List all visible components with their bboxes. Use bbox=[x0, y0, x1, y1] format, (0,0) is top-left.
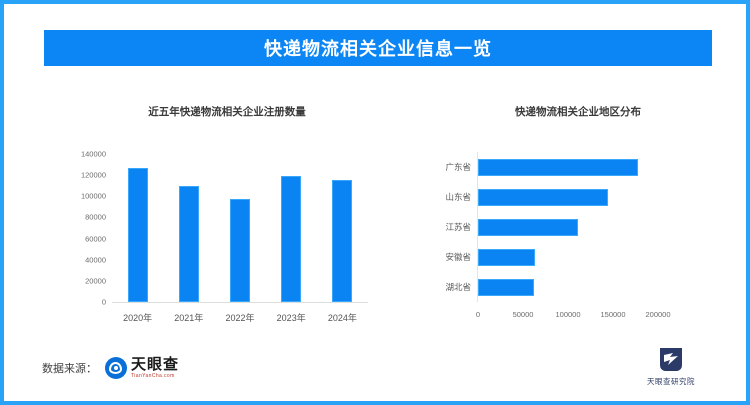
page-title-banner: 快递物流相关企业信息一览 bbox=[44, 30, 712, 66]
y-axis-tick-label: 60000 bbox=[85, 234, 106, 243]
bar-row: 湖北省 bbox=[478, 279, 658, 296]
y-axis-category-label: 广东省 bbox=[445, 161, 471, 173]
chart-panel-registrations: 近五年快递物流相关企业注册数量 020000400006000080000100… bbox=[48, 90, 388, 330]
x-axis-category-label: 2021年 bbox=[174, 311, 203, 324]
column-slot: 2021年 bbox=[163, 154, 214, 302]
bar-row: 广东省 bbox=[478, 159, 658, 176]
chart-title-registrations: 近五年快递物流相关企业注册数量 bbox=[48, 104, 388, 119]
column-chart-plot-area: 0200004000060000800001000001200001400002… bbox=[112, 154, 368, 303]
column-slot: 2023年 bbox=[266, 154, 317, 302]
bar-chart-plot-area: 广东省山东省江苏省安徽省湖北省050000100000150000200000 bbox=[477, 152, 658, 302]
bar-row: 山东省 bbox=[478, 189, 658, 206]
horizontal-bar[interactable] bbox=[478, 219, 578, 236]
data-source-footer: 数据来源： 天眼查 TianYanCha.com bbox=[42, 357, 179, 379]
column-slot: 2022年 bbox=[214, 154, 265, 302]
x-axis-tick-label: 0 bbox=[476, 310, 480, 319]
horizontal-bar[interactable] bbox=[478, 159, 638, 176]
institute-mark-icon bbox=[656, 346, 686, 373]
y-axis-category-label: 安徽省 bbox=[445, 251, 471, 263]
tianyancha-logo: 天眼查 TianYanCha.com bbox=[105, 357, 179, 379]
institute-footer: 天眼查研究院 bbox=[628, 346, 714, 387]
page-title: 快递物流相关企业信息一览 bbox=[264, 35, 492, 61]
x-axis-tick-label: 50000 bbox=[513, 310, 534, 319]
x-axis-category-label: 2022年 bbox=[225, 311, 254, 324]
x-axis-tick-label: 100000 bbox=[555, 310, 580, 319]
x-axis-tick-label: 150000 bbox=[600, 310, 625, 319]
horizontal-bar[interactable] bbox=[478, 189, 608, 206]
y-axis-tick-label: 0 bbox=[102, 298, 106, 307]
y-axis-tick-label: 120000 bbox=[81, 171, 106, 180]
institute-name: 天眼查研究院 bbox=[647, 376, 695, 387]
y-axis-tick-label: 20000 bbox=[85, 276, 106, 285]
y-axis-tick-label: 80000 bbox=[85, 213, 106, 222]
y-axis-tick-label: 100000 bbox=[81, 192, 106, 201]
brand-name-en: TianYanCha.com bbox=[131, 374, 179, 379]
chart-title-region-distribution: 快递物流相关企业地区分布 bbox=[424, 104, 724, 119]
column-bar[interactable] bbox=[128, 168, 148, 302]
column-bar[interactable] bbox=[332, 180, 352, 302]
infographic-page: 快递物流相关企业信息一览 近五年快递物流相关企业注册数量 02000040000… bbox=[0, 0, 750, 405]
column-bar[interactable] bbox=[281, 176, 301, 302]
chart-panel-region-distribution: 快递物流相关企业地区分布 广东省山东省江苏省安徽省湖北省050000100000… bbox=[424, 90, 724, 330]
y-axis-tick-label: 140000 bbox=[81, 150, 106, 159]
data-source-label: 数据来源： bbox=[42, 360, 97, 376]
column-slot: 2024年 bbox=[317, 154, 368, 302]
y-axis-category-label: 山东省 bbox=[445, 191, 471, 203]
horizontal-bar[interactable] bbox=[478, 249, 535, 266]
x-axis-category-label: 2023年 bbox=[277, 311, 306, 324]
column-bar[interactable] bbox=[179, 186, 199, 302]
x-axis-category-label: 2020年 bbox=[123, 311, 152, 324]
column-slot: 2020年 bbox=[112, 154, 163, 302]
y-axis-tick-label: 40000 bbox=[85, 255, 106, 264]
brand-name-cn: 天眼查 bbox=[131, 357, 179, 372]
y-axis-category-label: 湖北省 bbox=[445, 281, 471, 293]
column-bar[interactable] bbox=[230, 199, 250, 302]
x-axis-category-label: 2024年 bbox=[328, 311, 357, 324]
horizontal-bar[interactable] bbox=[478, 279, 534, 296]
x-axis-tick-label: 200000 bbox=[645, 310, 670, 319]
bar-row: 安徽省 bbox=[478, 249, 658, 266]
bar-row: 江苏省 bbox=[478, 219, 658, 236]
tianyancha-eye-logo-icon bbox=[105, 357, 127, 379]
y-axis-category-label: 江苏省 bbox=[445, 221, 471, 233]
tianyancha-wordmark: 天眼查 TianYanCha.com bbox=[131, 357, 179, 379]
